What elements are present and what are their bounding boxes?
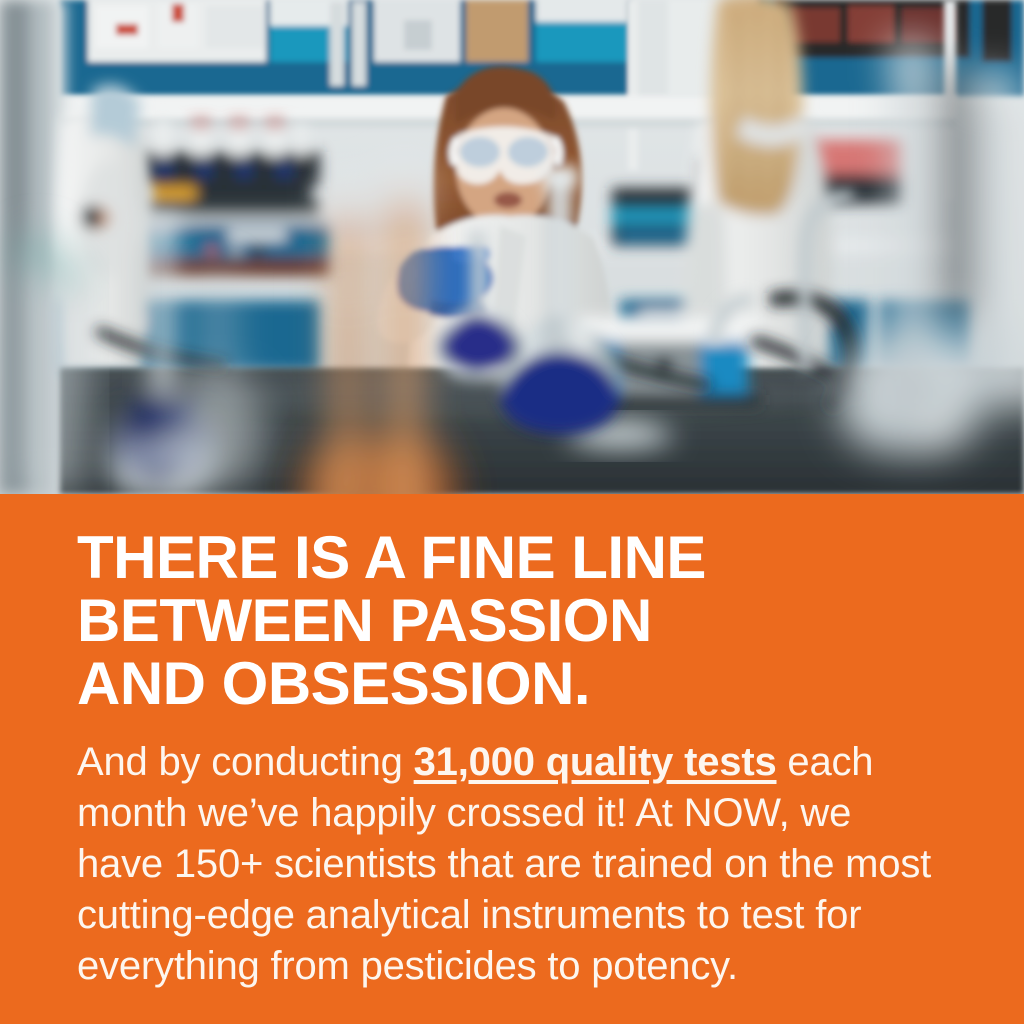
orange-text-panel: THERE IS A FINE LINE BETWEEN PASSION AND… xyxy=(0,494,1024,1024)
laboratory-photo: 500 xyxy=(0,0,1024,494)
lab-scene-illustration: 500 xyxy=(0,0,1024,494)
poster-root: 500 xyxy=(0,0,1024,1024)
panel-content: THERE IS A FINE LINE BETWEEN PASSION AND… xyxy=(77,526,957,992)
quality-tests-emphasis: 31,000 quality tests xyxy=(414,740,777,784)
body-text-before: And by conducting xyxy=(77,740,414,784)
headline: THERE IS A FINE LINE BETWEEN PASSION AND… xyxy=(77,526,957,715)
body-copy: And by conducting 31,000 quality tests e… xyxy=(77,715,947,992)
